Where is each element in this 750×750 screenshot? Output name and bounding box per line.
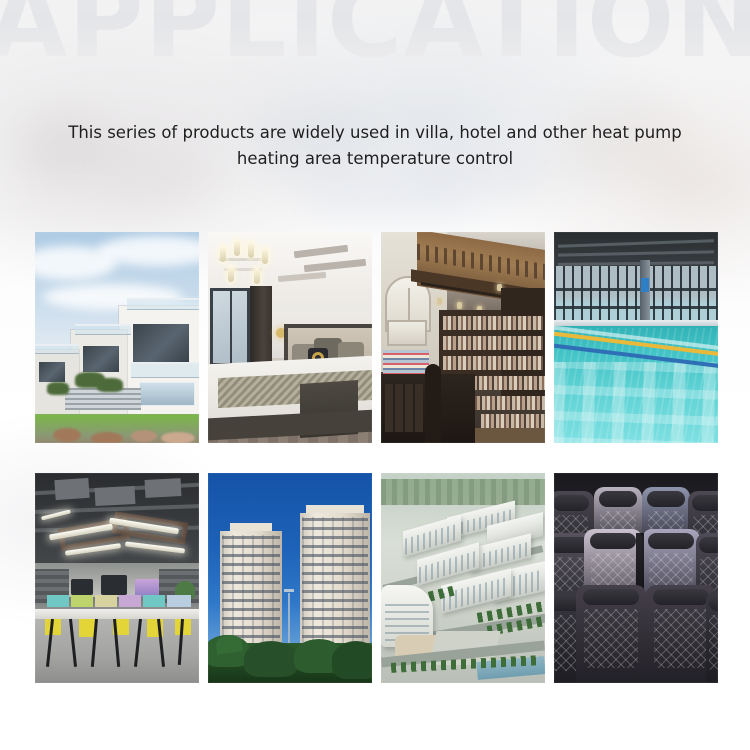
swimming-pool-photo [554, 232, 718, 443]
cinema-photo [554, 473, 718, 683]
gallery-item-villa[interactable] [35, 232, 199, 443]
hotel-bedroom-photo [208, 232, 372, 443]
gallery-item-cinema[interactable] [554, 473, 718, 683]
application-gallery [35, 232, 716, 683]
gallery-item-swimming-pool[interactable] [554, 232, 718, 443]
page-title-watermark: APPLICATION [0, 0, 750, 73]
library-photo [381, 232, 545, 443]
application-page: APPLICATION This series of products are … [0, 0, 750, 750]
industrial-park-photo [381, 473, 545, 683]
watermark-container: APPLICATION [0, 0, 750, 100]
gallery-item-library[interactable] [381, 232, 545, 443]
gallery-item-office[interactable] [35, 473, 199, 683]
office-photo [35, 473, 199, 683]
apartment-towers-photo [208, 473, 372, 683]
villa-photo [35, 232, 199, 443]
gallery-row-2 [35, 473, 716, 683]
gallery-item-industrial-park[interactable] [381, 473, 545, 683]
page-subtitle: This series of products are widely used … [0, 120, 750, 172]
gallery-item-apartment-towers[interactable] [208, 473, 372, 683]
gallery-row-1 [35, 232, 716, 443]
gallery-item-hotel-bedroom[interactable] [208, 232, 372, 443]
